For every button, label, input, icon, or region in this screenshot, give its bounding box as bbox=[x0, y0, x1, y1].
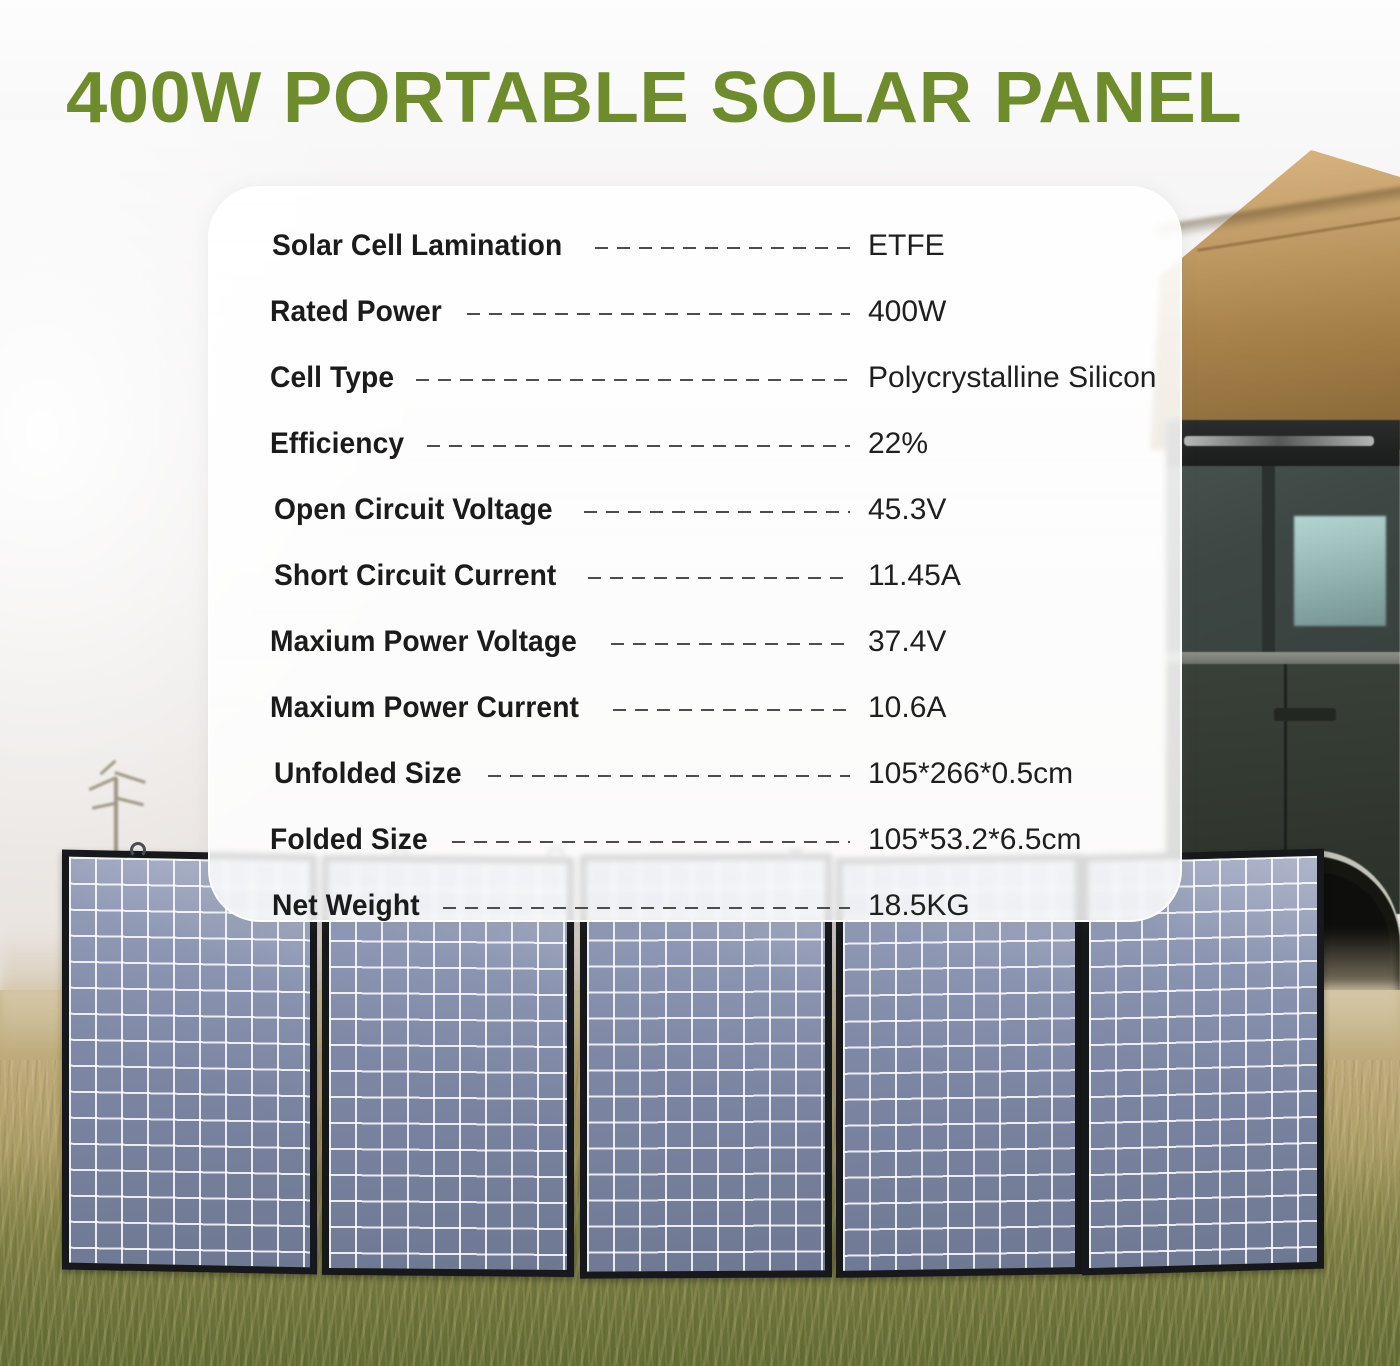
spec-label: Net Weight bbox=[272, 889, 420, 923]
spec-label: Open Circuit Voltage bbox=[274, 493, 553, 527]
spec-row: Maxium Power Current 10.6A bbox=[210, 675, 1184, 741]
panel-hook-1 bbox=[130, 842, 146, 858]
spec-row: Net Weight 18.5KG bbox=[210, 873, 1184, 939]
spec-value: ETFE bbox=[864, 229, 1184, 263]
spec-label: Short Circuit Current bbox=[274, 559, 556, 593]
spec-value: 400W bbox=[864, 295, 1184, 329]
spec-row: Open Circuit Voltage 45.3V bbox=[210, 477, 1184, 543]
suv-beltline-trim bbox=[1166, 652, 1400, 664]
spec-dash-leader bbox=[611, 643, 850, 645]
spec-row: Efficiency 22% bbox=[210, 411, 1184, 477]
suv-roof-rack bbox=[1166, 420, 1400, 466]
spec-row: Cell Type Polycrystalline Silicon bbox=[210, 345, 1184, 411]
spec-row: Folded Size 105*53.2*6.5cm bbox=[210, 807, 1184, 873]
suv-door-pillar bbox=[1262, 466, 1275, 656]
specifications-list: Solar Cell Lamination ETFE Rated Power 4… bbox=[210, 213, 1184, 939]
suv-door-handle bbox=[1274, 708, 1336, 721]
suv-window-reflection bbox=[1294, 516, 1386, 626]
spec-label: Folded Size bbox=[270, 823, 428, 857]
spec-value: 45.3V bbox=[864, 493, 1184, 527]
spec-label: Solar Cell Lamination bbox=[272, 229, 562, 263]
spec-dash-leader bbox=[588, 577, 850, 579]
spec-dash-leader bbox=[584, 511, 850, 513]
spec-dash-leader bbox=[613, 709, 850, 711]
specifications-card: Solar Cell Lamination ETFE Rated Power 4… bbox=[208, 186, 1182, 922]
spec-label: Rated Power bbox=[270, 295, 442, 329]
spec-dash-leader bbox=[427, 445, 850, 447]
spec-row: Solar Cell Lamination ETFE bbox=[210, 213, 1184, 279]
spec-label: Unfolded Size bbox=[274, 757, 462, 791]
spec-row: Unfolded Size 105*266*0.5cm bbox=[210, 741, 1184, 807]
spec-label: Maxium Power Current bbox=[270, 691, 579, 725]
spec-row: Short Circuit Current 11.45A bbox=[210, 543, 1184, 609]
spec-row: Rated Power 400W bbox=[210, 279, 1184, 345]
spec-value: 37.4V bbox=[864, 625, 1184, 659]
spec-dash-leader bbox=[452, 841, 850, 843]
spec-label: Maxium Power Voltage bbox=[270, 625, 577, 659]
spec-value: 11.45A bbox=[864, 559, 1184, 593]
spec-label: Cell Type bbox=[270, 361, 394, 395]
spec-value: Polycrystalline Silicon bbox=[864, 361, 1184, 395]
spec-row: Maxium Power Voltage 37.4V bbox=[210, 609, 1184, 675]
spec-value: 105*53.2*6.5cm bbox=[864, 823, 1184, 857]
spec-value: 18.5KG bbox=[864, 889, 1184, 923]
spec-dash-leader bbox=[443, 907, 850, 909]
spec-value: 105*266*0.5cm bbox=[864, 757, 1184, 791]
spec-value: 10.6A bbox=[864, 691, 1184, 725]
spec-dash-leader bbox=[467, 313, 850, 315]
spec-dash-leader bbox=[488, 775, 850, 777]
spec-value: 22% bbox=[864, 427, 1184, 461]
spec-dash-leader bbox=[595, 247, 850, 249]
spec-dash-leader bbox=[416, 379, 850, 381]
page-title: 400W PORTABLE SOLAR PANEL bbox=[66, 62, 1384, 134]
spec-label: Efficiency bbox=[270, 427, 404, 461]
